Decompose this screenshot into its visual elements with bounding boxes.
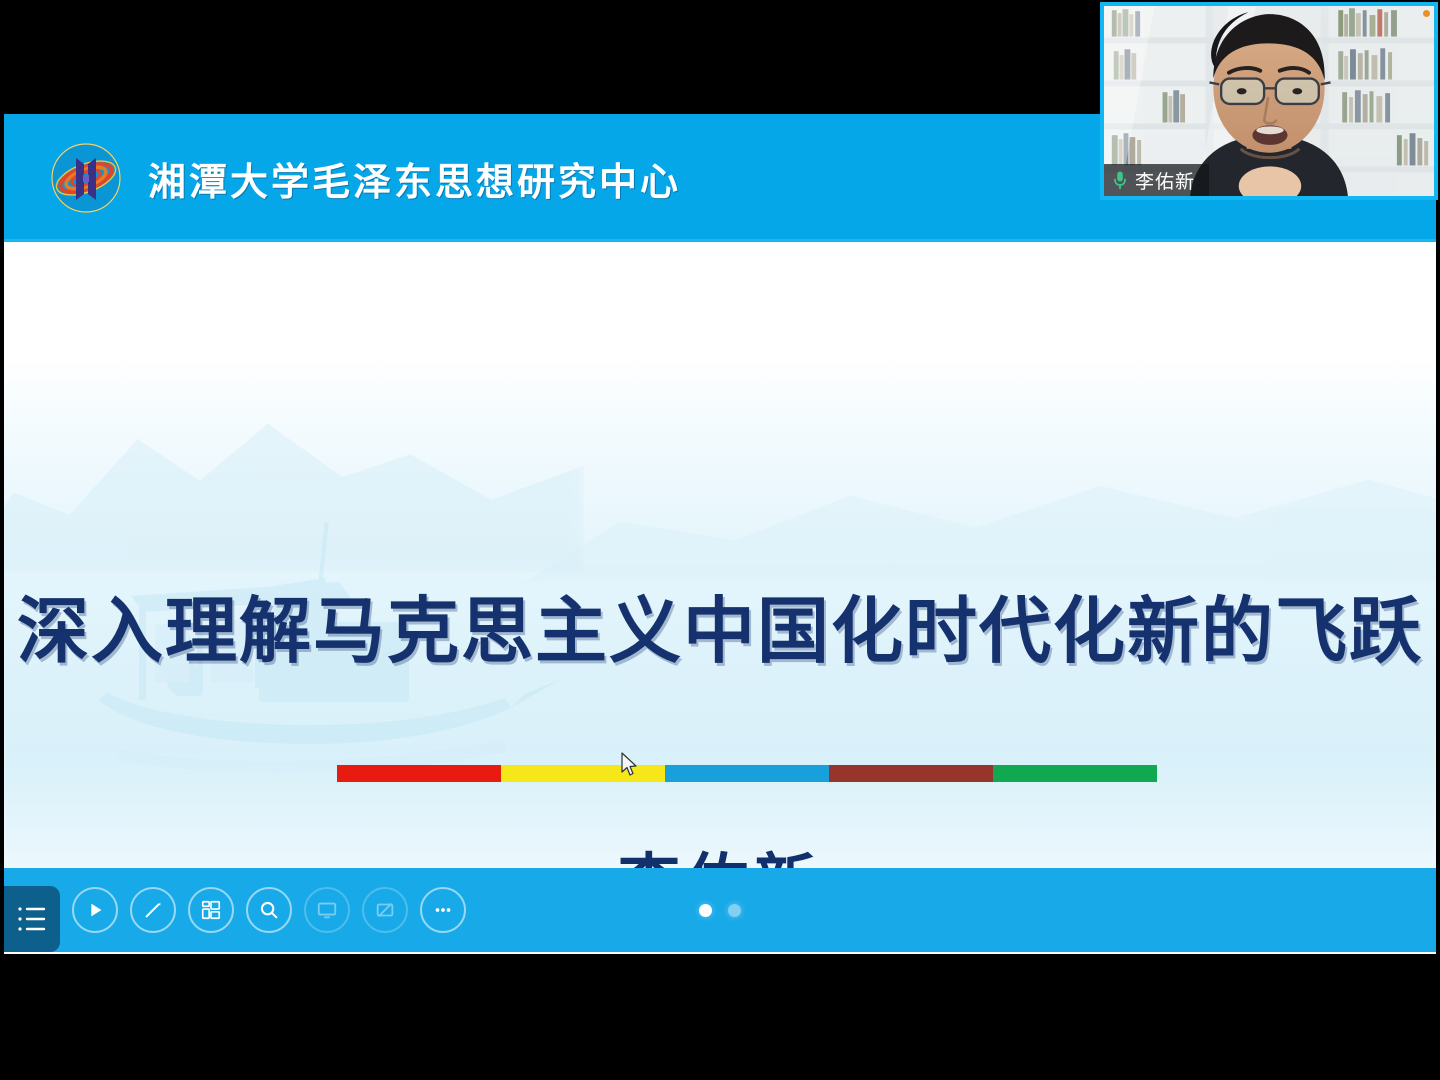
screen-share-stage: 湘潭大学毛泽东思想研究中心 (0, 0, 1440, 1080)
layout-button[interactable] (188, 887, 234, 933)
more-button[interactable] (420, 887, 466, 933)
divider-segment-blue (665, 765, 829, 782)
list-outline-icon (15, 902, 49, 936)
participant-name-plate: 李佑新 (1104, 164, 1209, 196)
slide-body: 深入理解马克思主义中国化时代化新的飞跃 李佑新 (4, 242, 1436, 954)
outline-panel-button[interactable] (4, 886, 60, 952)
magnifier-icon (258, 899, 280, 921)
screen-icon (316, 899, 338, 921)
zoom-search-button[interactable] (246, 887, 292, 933)
divider-segment-green (993, 765, 1157, 782)
no-annotate-button[interactable] (362, 887, 408, 933)
slash-circle-icon (374, 899, 396, 921)
pen-button[interactable] (130, 887, 176, 933)
player-toolbar[interactable] (4, 868, 1436, 952)
participant-name-label: 李佑新 (1135, 167, 1195, 194)
layout-grid-icon (200, 899, 222, 921)
divider-segment-brown (829, 765, 993, 782)
toolbar-button-group (4, 868, 466, 952)
pen-icon (142, 899, 164, 921)
participant-video-tile[interactable]: 李佑新 (1100, 2, 1438, 200)
color-divider-rule (337, 765, 1157, 782)
divider-segment-red (337, 765, 501, 782)
page-dot-1[interactable] (699, 904, 712, 917)
presentation-slide[interactable]: 湘潭大学毛泽东思想研究中心 (4, 114, 1436, 954)
microphone-icon[interactable] (1112, 170, 1128, 190)
recording-indicator-badge (1423, 10, 1430, 17)
mountain-silhouette-right (524, 422, 1436, 582)
play-icon (84, 899, 106, 921)
whiteboard-button[interactable] (304, 887, 350, 933)
university-emblem-icon (50, 142, 122, 214)
divider-segment-yellow (501, 765, 665, 782)
page-dot-2[interactable] (728, 904, 741, 917)
organization-title: 湘潭大学毛泽东思想研究中心 (148, 151, 681, 206)
slide-title: 深入理解马克思主义中国化时代化新的飞跃 (4, 572, 1436, 677)
ellipsis-icon (432, 899, 454, 921)
play-button[interactable] (72, 887, 118, 933)
